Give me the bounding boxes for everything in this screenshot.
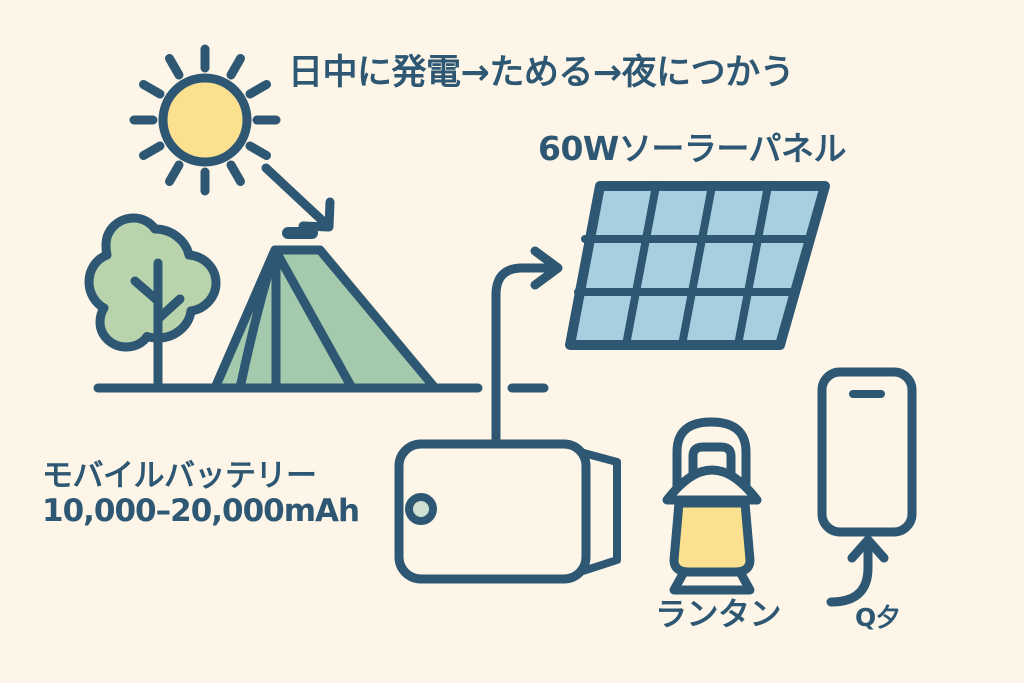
diagram-canvas: 日中に発電→ためる→夜につかう 60Wソーラーパネル モバイルバッテリー 10,… <box>0 0 1024 683</box>
sun-icon <box>134 49 276 191</box>
battery-to-panel-cable-icon <box>496 251 558 455</box>
battery-indicator-icon <box>409 497 433 521</box>
lantern-label: ランタン <box>655 597 781 633</box>
smartphone-label: Q夕 <box>855 604 900 632</box>
sun-disc-icon <box>163 78 247 162</box>
lantern-glass-icon <box>674 503 750 572</box>
charge-phone-arrow-icon <box>831 540 884 602</box>
battery-capacity-label: 10,000–20,000mAh <box>42 494 359 529</box>
lantern-base-icon <box>674 572 750 590</box>
diagram-illustration <box>0 0 1024 683</box>
battery-label: モバイルバッテリー 10,000–20,000mAh <box>42 459 359 528</box>
tent-vent-icon <box>282 227 318 239</box>
tent-icon <box>215 227 435 388</box>
tree-foliage-icon <box>89 218 216 347</box>
battery-name-label: モバイルバッテリー <box>42 459 359 494</box>
tree-icon <box>89 218 216 388</box>
smartphone-icon <box>822 372 912 532</box>
lantern-icon <box>667 422 757 590</box>
battery-pack-icon <box>399 444 617 579</box>
page-title: 日中に発電→ためる→夜につかう <box>288 54 794 93</box>
solar-panel-icon <box>570 186 825 345</box>
sun-to-tent-arrow-icon <box>266 168 330 227</box>
solar-panel-label: 60Wソーラーパネル <box>538 131 846 168</box>
